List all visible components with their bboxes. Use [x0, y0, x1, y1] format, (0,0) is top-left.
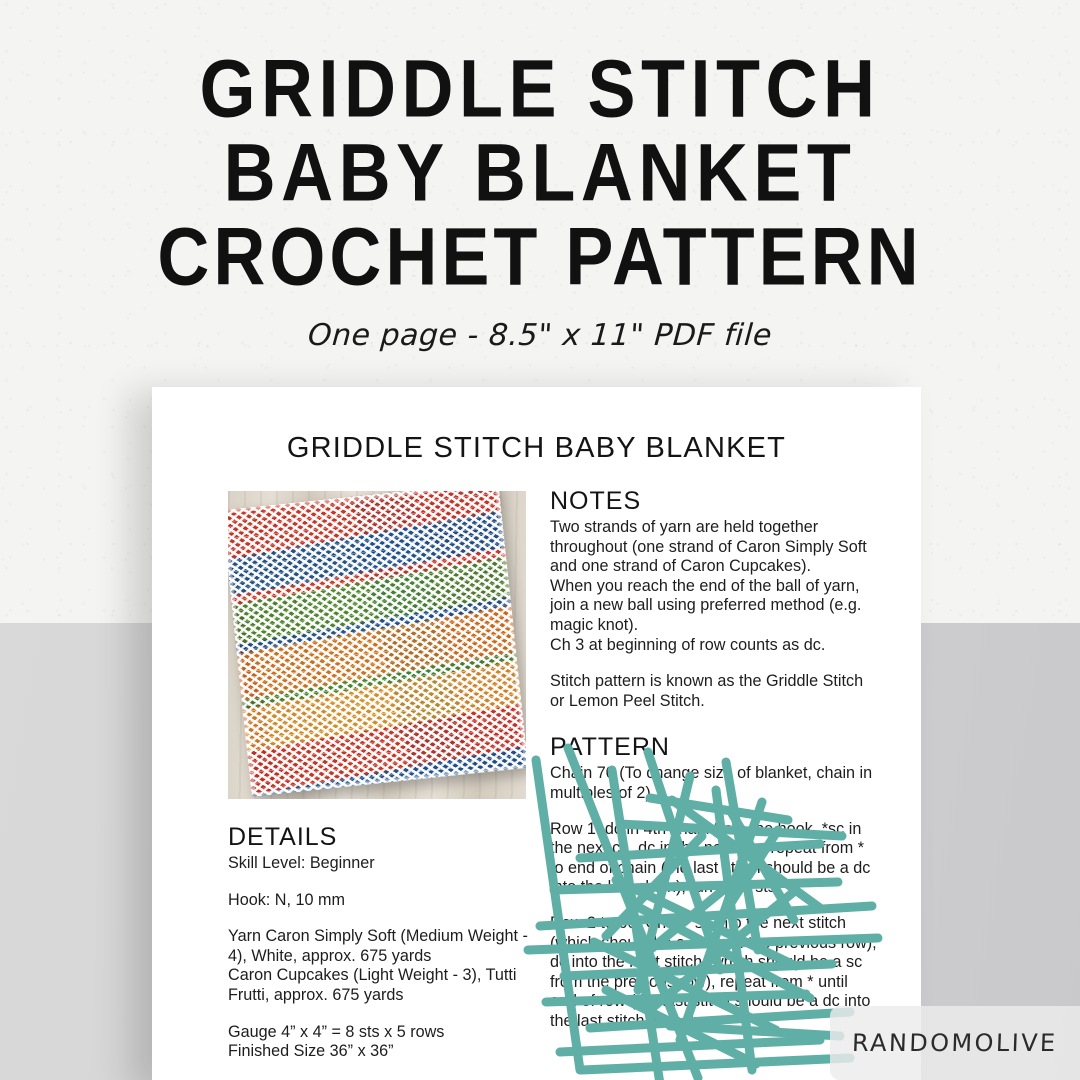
- spacer: [228, 1006, 528, 1023]
- left-column: DETAILS Skill Level: Beginner Hook: N, 1…: [228, 491, 528, 1080]
- pattern-body: Chain 70 (To change size of blanket, cha…: [550, 764, 877, 1031]
- spacer: [228, 874, 528, 891]
- details-hook: Hook: N, 10 mm: [228, 891, 528, 911]
- details-body: Skill Level: Beginner Hook: N, 10 mm Yar…: [228, 854, 528, 1062]
- crochet-blanket-photo: [228, 491, 526, 799]
- notes-body: Two strands of yarn are held together th…: [550, 518, 877, 711]
- watermark-badge: RANDOMOLIVE: [830, 1006, 1080, 1080]
- details-yarn-1: Yarn Caron Simply Soft (Medium Weight - …: [228, 927, 528, 966]
- pattern-paragraph-3: Row 2 to 60: Ch 3, *sc into the next sti…: [550, 914, 877, 1032]
- details-gauge: Gauge 4” x 4” = 8 sts x 5 rows: [228, 1023, 528, 1043]
- spacer: [550, 711, 877, 733]
- document-title: GRIDDLE STITCH BABY BLANKET: [152, 432, 921, 465]
- pdf-page-preview[interactable]: GRIDDLE STITCH BABY BLANKET DETAILS: [152, 387, 921, 1080]
- spacer: [228, 910, 528, 927]
- spacer: [550, 655, 877, 672]
- details-section: DETAILS Skill Level: Beginner Hook: N, 1…: [228, 823, 528, 1062]
- details-heading: DETAILS: [228, 823, 528, 852]
- notes-paragraph-4: Stitch pattern is known as the Griddle S…: [550, 672, 877, 711]
- pattern-heading: PATTERN: [550, 733, 877, 762]
- watermark-label: RANDOMOLIVE: [852, 1029, 1058, 1057]
- header: GRIDDLE STITCH BABY BLANKET CROCHET PATT…: [0, 0, 1080, 353]
- title-line-2: BABY BLANKET: [0, 126, 1080, 221]
- title-line-1: GRIDDLE STITCH: [0, 42, 1080, 137]
- details-skill-level: Skill Level: Beginner: [228, 854, 528, 874]
- title-line-3: CROCHET PATTERN: [0, 210, 1080, 305]
- pattern-paragraph-2: Row 1: dc in 4th chain from the hook, *s…: [550, 820, 877, 898]
- pattern-paragraph-1: Chain 70 (To change size of blanket, cha…: [550, 764, 877, 803]
- notes-paragraph-2: When you reach the end of the ball of ya…: [550, 577, 877, 636]
- blanket-edge: [228, 491, 526, 797]
- right-column: NOTES Two strands of yarn are held toget…: [550, 491, 877, 1080]
- document-columns: DETAILS Skill Level: Beginner Hook: N, 1…: [152, 465, 921, 1080]
- notes-paragraph-3: Ch 3 at beginning of row counts as dc.: [550, 636, 877, 656]
- header-subtitle: One page - 8.5" x 11" PDF file: [0, 318, 1080, 353]
- notes-heading: NOTES: [550, 487, 877, 516]
- blanket-swatch: [228, 491, 526, 797]
- details-finished-size: Finished Size 36” x 36”: [228, 1042, 528, 1062]
- notes-paragraph-1: Two strands of yarn are held together th…: [550, 518, 877, 577]
- details-yarn-2: Caron Cupcakes (Light Weight - 3), Tutti…: [228, 966, 528, 1005]
- screenshot-stage: GRIDDLE STITCH BABY BLANKET CROCHET PATT…: [0, 0, 1080, 1080]
